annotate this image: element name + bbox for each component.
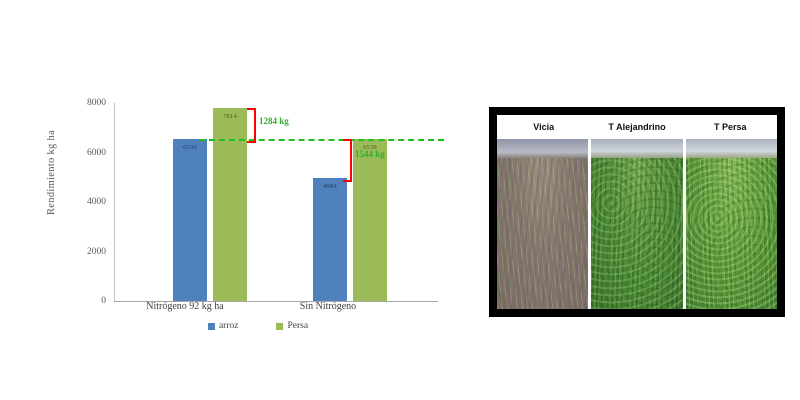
delta-label-bottom: 1544 kg xyxy=(355,149,385,159)
bar-chart: Rendimiento kg ha 8000 6000 4000 2000 0 … xyxy=(20,85,460,335)
photo-field-vicia xyxy=(497,139,588,309)
field-region xyxy=(497,158,588,309)
x-category-label: Sin Nitrógeno xyxy=(258,301,398,312)
bar-group-sin-nitrogeno: 4984 6538 xyxy=(305,103,395,301)
photo-panel: Vicia T Alejandrino T Persa xyxy=(489,107,785,317)
photo-field-persa xyxy=(686,139,777,309)
x-category-label: Nitrógeno 92 kg ha xyxy=(115,301,255,312)
bar-sin-nitrogeno-persa[interactable]: 6538 xyxy=(353,139,387,301)
x-axis-categories: Nitrógeno 92 kg ha Sin Nitrógeno xyxy=(78,301,438,319)
bar-value-label: 6530 xyxy=(183,145,197,152)
photo-caption-persa: T Persa xyxy=(684,122,777,132)
bar-nitrogeno-arroz[interactable]: 6530 xyxy=(173,139,207,301)
legend-swatch-icon xyxy=(208,323,215,330)
photo-field-alejandrino xyxy=(591,139,682,309)
legend-label: Persa xyxy=(287,321,308,331)
delta-bracket-top xyxy=(247,108,256,144)
bars-container: 6530 7814 4984 6538 xyxy=(115,103,438,301)
photo-caption-vicia: Vicia xyxy=(497,122,590,132)
delta-bracket-bottom xyxy=(343,139,352,181)
photo-panel-inner: Vicia T Alejandrino T Persa xyxy=(497,115,777,309)
y-tick-label: 6000 xyxy=(66,148,106,158)
field-region xyxy=(591,158,682,309)
plot-area: 8000 6000 4000 2000 0 6530 7814 xyxy=(78,103,438,301)
delta-label-top: 1284 kg xyxy=(259,116,289,126)
legend-item-arroz[interactable]: arroz xyxy=(208,321,239,331)
chart-legend: arroz Persa xyxy=(78,321,438,331)
y-axis-ticks: 8000 6000 4000 2000 0 xyxy=(78,103,110,301)
y-tick-label: 8000 xyxy=(66,98,106,108)
bar-value-label: 4984 xyxy=(323,184,337,191)
figure-root: Rendimiento kg ha 8000 6000 4000 2000 0 … xyxy=(0,0,800,400)
legend-swatch-icon xyxy=(276,323,283,330)
photo-captions-row: Vicia T Alejandrino T Persa xyxy=(497,115,777,139)
bar-value-label: 7814 xyxy=(223,114,237,121)
y-tick-label: 4000 xyxy=(66,197,106,207)
bar-sin-nitrogeno-arroz[interactable]: 4984 xyxy=(313,178,347,301)
y-axis-title: Rendimiento kg ha xyxy=(46,75,62,215)
photo-caption-alejandrino: T Alejandrino xyxy=(590,122,683,132)
bar-nitrogeno-persa[interactable]: 7814 xyxy=(213,108,247,301)
legend-item-persa[interactable]: Persa xyxy=(276,321,308,331)
field-region xyxy=(686,158,777,309)
bar-group-nitrogeno: 6530 7814 xyxy=(165,103,255,301)
legend-label: arroz xyxy=(219,321,239,331)
y-tick-label: 2000 xyxy=(66,247,106,257)
photo-row xyxy=(497,139,777,309)
